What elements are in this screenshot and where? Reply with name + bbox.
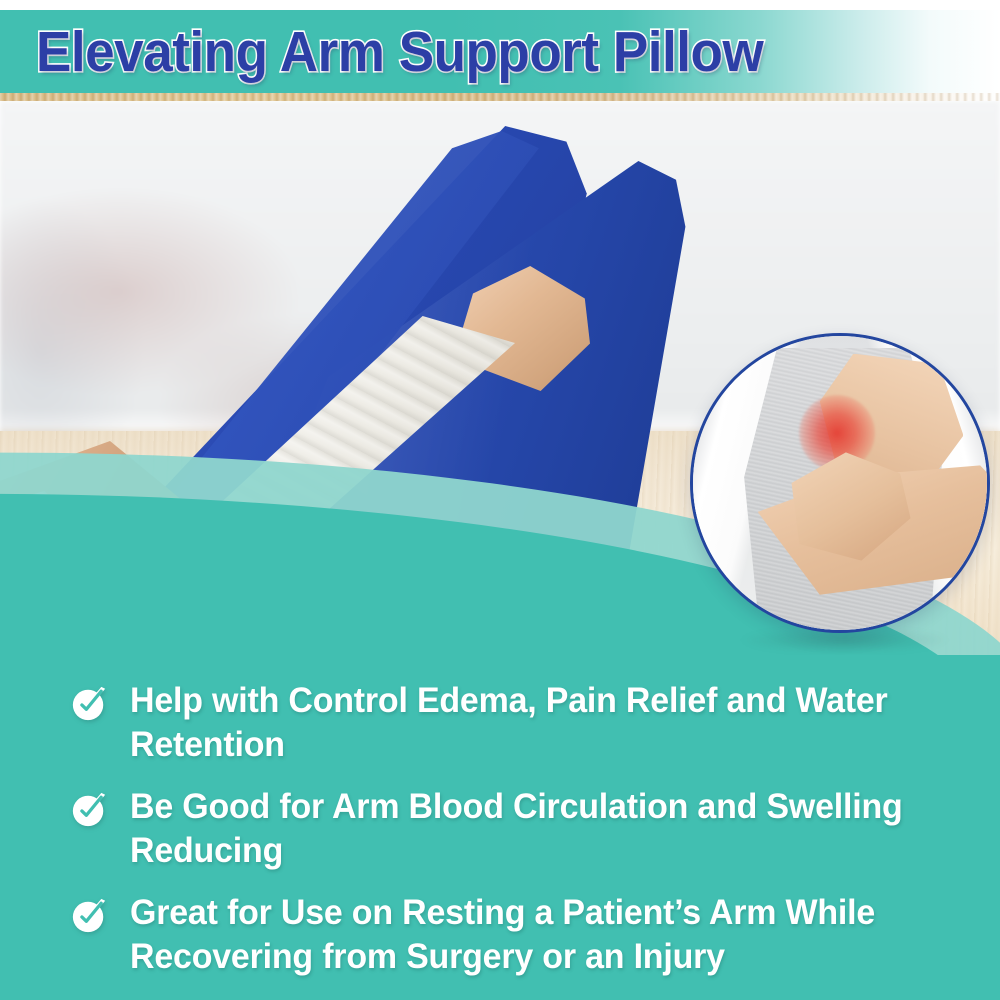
list-item-label: Great for Use on Resting a Patient’s Arm…	[130, 891, 925, 979]
check-circle-icon	[70, 791, 108, 829]
product-photo	[0, 101, 1000, 661]
check-circle-icon	[70, 897, 108, 935]
header: Elevating Arm Support Pillow	[0, 0, 1000, 102]
product-poster: Elevating Arm Support Pillow	[0, 0, 1000, 1000]
list-item: Help with Control Edema, Pain Relief and…	[40, 679, 960, 767]
elbow-pain-inset	[690, 333, 990, 633]
list-item-label: Be Good for Arm Blood Circulation and Sw…	[130, 785, 925, 873]
list-item-label: Help with Control Edema, Pain Relief and…	[130, 679, 925, 767]
header-accent-strip	[0, 93, 1000, 101]
feature-list: Help with Control Edema, Pain Relief and…	[0, 655, 1000, 1000]
page-title: Elevating Arm Support Pillow	[36, 22, 763, 82]
list-item: Be Good for Arm Blood Circulation and Sw…	[40, 785, 960, 873]
list-item: Great for Use on Resting a Patient’s Arm…	[40, 891, 960, 979]
check-circle-icon	[70, 685, 108, 723]
